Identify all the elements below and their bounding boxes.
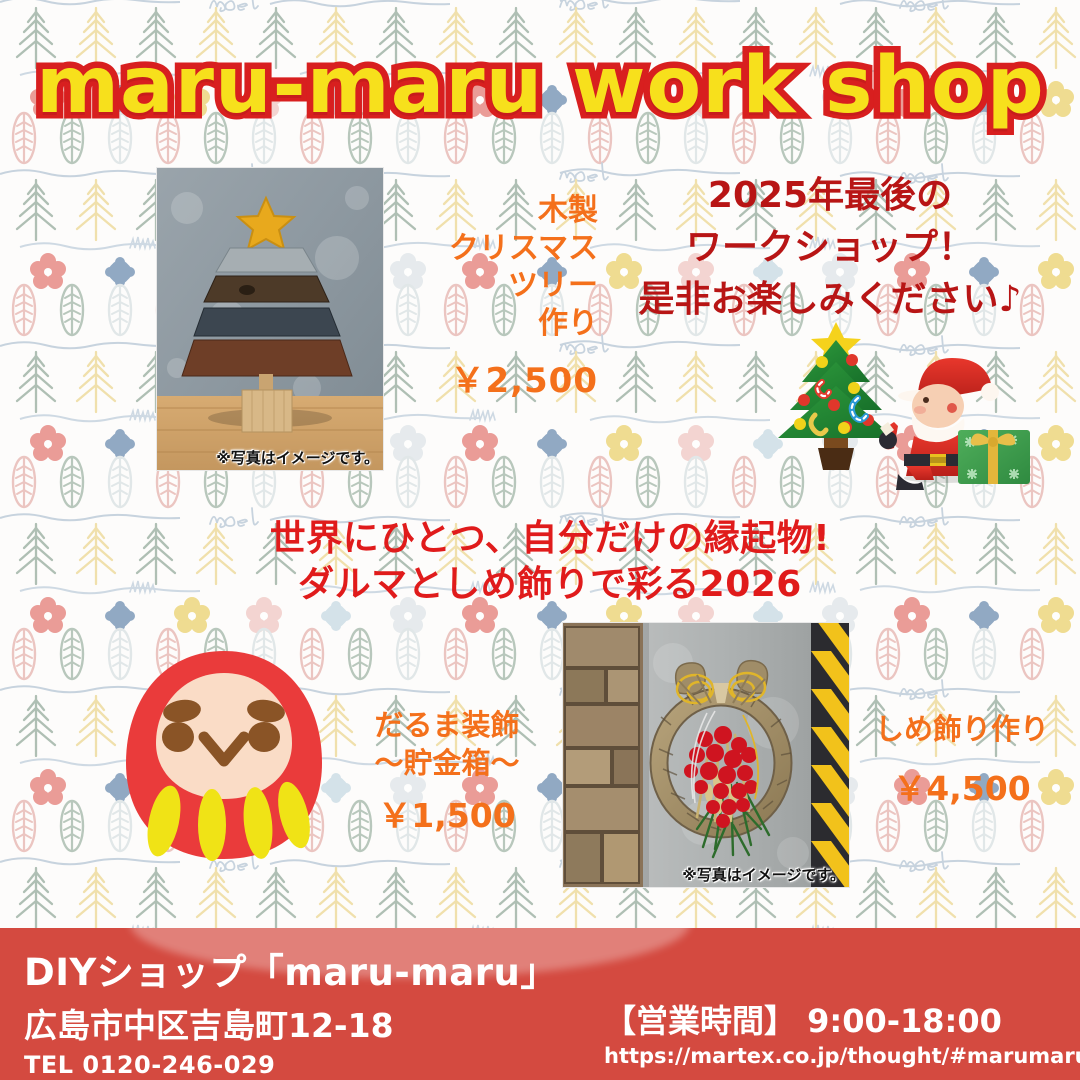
promo-line2: ワークショップ！ (596, 222, 1064, 274)
business-hours: 【営業時間】 9:00-18:00 (604, 996, 1080, 1042)
photo-caption: ※写真はイメージです。 (682, 864, 845, 885)
shimekazari-item-price: ￥4,500 (856, 768, 1068, 809)
tree-item-label: 木製 クリスマス ツリー 作り (384, 192, 598, 342)
wooden-christmas-tree-photo: ※写真はイメージです。 (156, 167, 384, 471)
shop-url[interactable]: https://martex.co.jp/thought/#marumaru (604, 1044, 1080, 1068)
daruma-illustration (112, 643, 336, 867)
shop-name: DIYショップ「maru-maru」 (24, 942, 558, 996)
daruma-item-price: ￥1,500 (352, 795, 542, 836)
promo-message: 2025年最後の ワークショップ！ 是非お楽しみください♪ (596, 170, 1064, 327)
daruma-label-line2: 〜貯金箱〜 (352, 745, 542, 783)
promo-line1: 2025年最後の (596, 170, 1064, 222)
section-heading: 世界にひとつ、自分だけの縁起物! ダルマとしめ飾りで彩る2026 (190, 516, 910, 608)
tree-item-price: ￥2,500 (384, 360, 598, 403)
poster-title-banner: maru-maru work shop (0, 40, 1080, 132)
shimekazari-item-label: しめ飾り作り (856, 711, 1068, 747)
tree-label-line3: ツリー (384, 267, 598, 305)
photo-caption: ※写真はイメージです。 (216, 447, 379, 468)
christmas-illustration-group (770, 310, 1030, 500)
shop-telephone[interactable]: TEL 0120-246-029 (24, 1051, 558, 1079)
poster-canvas: maru-maru work shop (0, 0, 1080, 1080)
tree-label-line2: クリスマス (384, 230, 598, 268)
footer-bar: DIYショップ「maru-maru」 広島市中区吉島町12-18 TEL 012… (0, 928, 1080, 1080)
gift-box-icon (958, 430, 1030, 484)
christmas-tree-icon (778, 322, 894, 470)
daruma-item-label: だるま装飾 〜貯金箱〜 (352, 707, 542, 782)
footer-hours-block: 【営業時間】 9:00-18:00 https://martex.co.jp/t… (604, 996, 1080, 1068)
shimekazari-wreath-photo: ※写真はイメージです。 (562, 622, 850, 888)
tree-label-line1: 木製 (384, 192, 598, 230)
daruma-label-line1: だるま装飾 (352, 707, 542, 745)
tree-label-line4: 作り (384, 305, 598, 343)
footer-contact-block: DIYショップ「maru-maru」 広島市中区吉島町12-18 TEL 012… (24, 942, 558, 1079)
mid-heading-line2: ダルマとしめ飾りで彩る2026 (190, 562, 910, 608)
promo-line3: 是非お楽しみください♪ (596, 274, 1064, 326)
shop-address: 広島市中区吉島町12-18 (24, 999, 558, 1047)
page-title: maru-maru work shop (36, 47, 1045, 125)
mid-heading-line1: 世界にひとつ、自分だけの縁起物! (190, 516, 910, 562)
